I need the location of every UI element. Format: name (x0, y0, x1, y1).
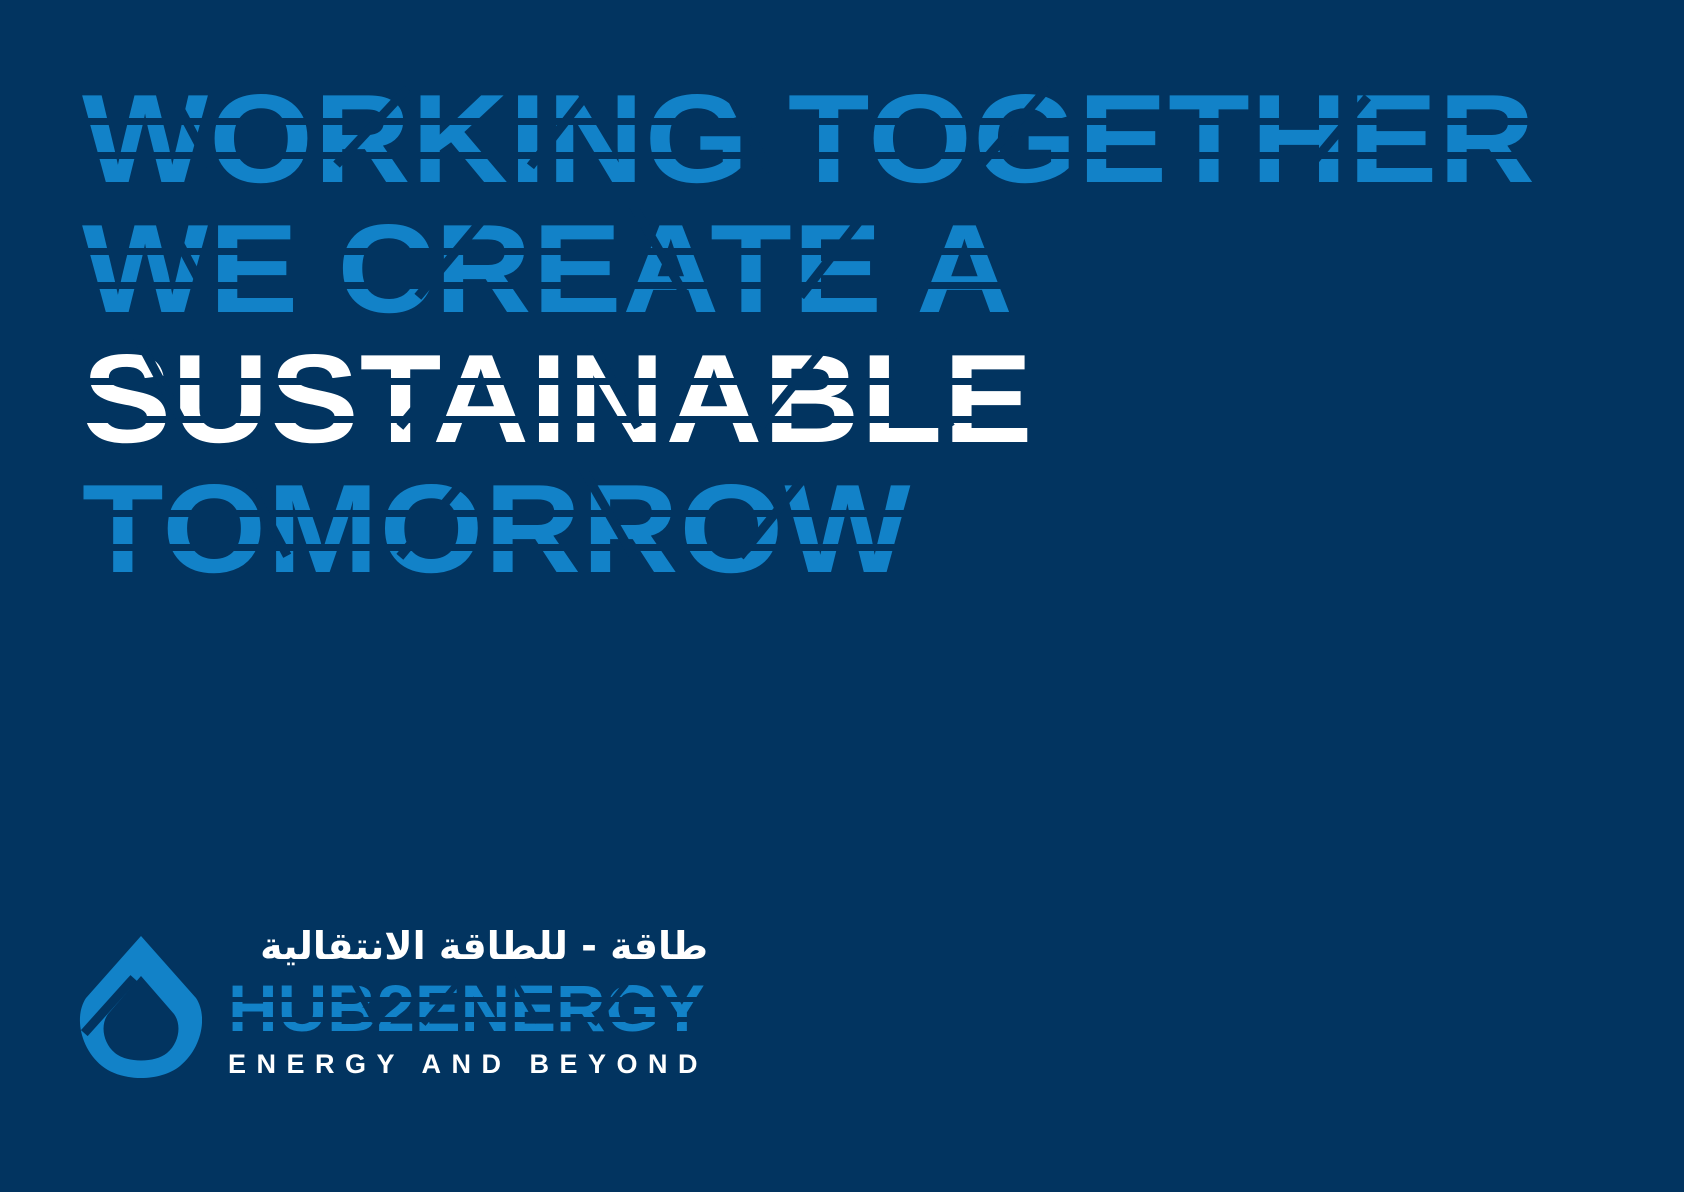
headline-line-1-text: WORKING TOGETHER (82, 78, 1602, 200)
headline-line-4: TOMORROW (82, 468, 1602, 590)
headline-block: WORKING TOGETHER WE CREATE A SUSTAINABLE (82, 78, 1602, 590)
hub2energy-wordmark: HUB2ENERGY (228, 977, 708, 1039)
headline-line-4-text: TOMORROW (82, 468, 1602, 590)
droplet-logo-mark (78, 932, 202, 1084)
arabic-tagline: طاقة - للطاقة الانتقالية (228, 927, 708, 967)
wordmark-wrap: HUB2ENERGY (228, 977, 708, 1039)
logo-text-group: طاقة - للطاقة الانتقالية HUB2ENERGY ENER… (228, 927, 708, 1084)
headline-line-3: SUSTAINABLE (82, 338, 1602, 460)
energy-and-beyond-tagline: ENERGY AND BEYOND (228, 1049, 708, 1080)
logo-lockup: طاقة - للطاقة الانتقالية HUB2ENERGY ENER… (78, 927, 708, 1084)
headline-line-3-text: SUSTAINABLE (82, 338, 1602, 460)
headline-line-2: WE CREATE A (82, 208, 1602, 330)
headline-line-1: WORKING TOGETHER (82, 78, 1602, 200)
presentation-slide: WORKING TOGETHER WE CREATE A SUSTAINABLE (0, 0, 1684, 1192)
headline-line-2-text: WE CREATE A (82, 208, 1602, 330)
